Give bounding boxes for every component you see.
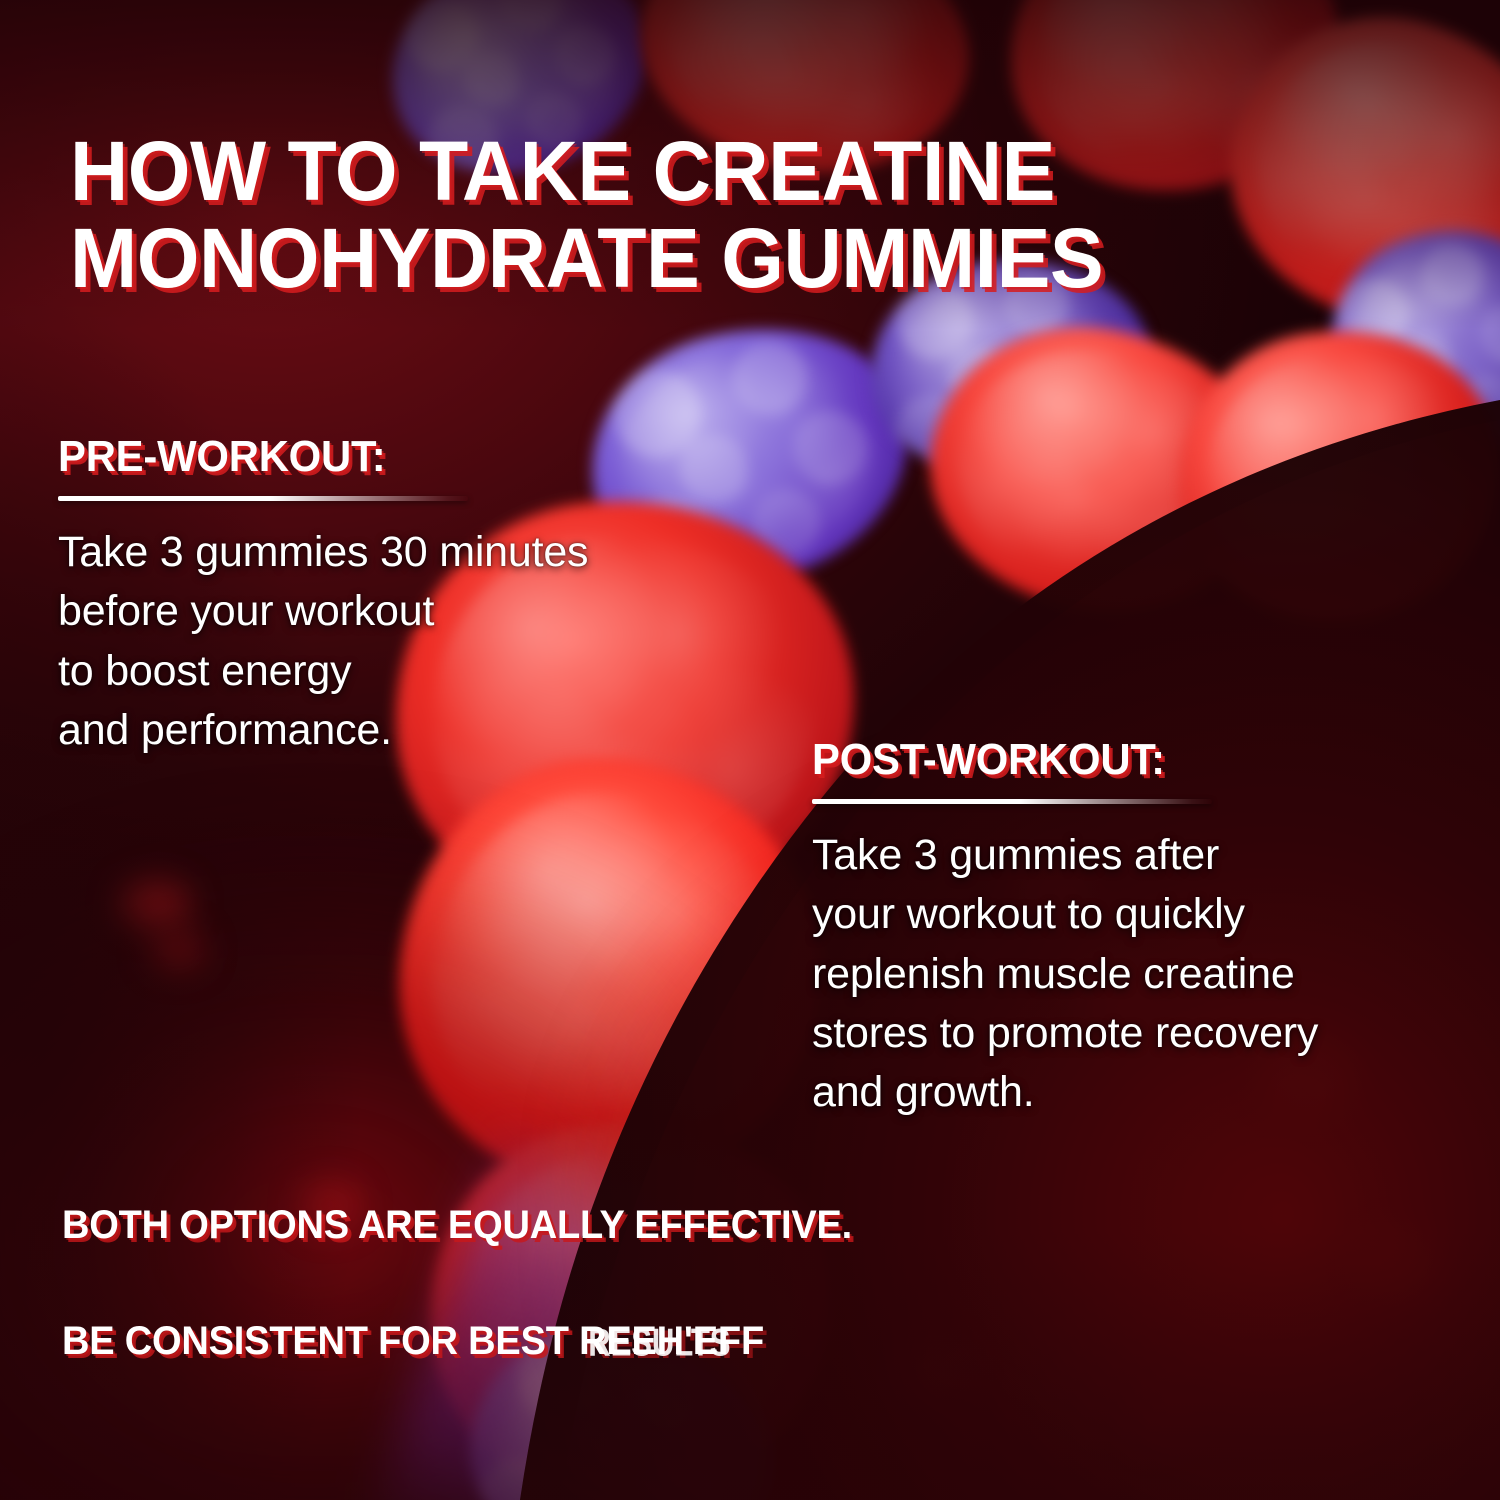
footer-line-2-prefix: BE CONSISTENT FOR BEST — [62, 1319, 579, 1363]
heading-underline-pre-workout — [58, 496, 468, 501]
bokeh-dot — [120, 880, 190, 928]
section-body-post-workout: Take 3 gummies after your workout to qui… — [812, 826, 1472, 1123]
section-post-workout: POST-WORKOUT: Take 3 gummies after your … — [812, 735, 1472, 1123]
section-body-pre-workout: Take 3 gummies 30 minutes before your wo… — [58, 523, 758, 760]
bokeh-dot — [150, 930, 204, 970]
page-title: HOW TO TAKE CREATINE MONOHYDRATE GUMMIES — [70, 128, 1270, 301]
heading-underline-post-workout — [812, 799, 1212, 804]
bokeh-dot — [1360, 1230, 1440, 1300]
footer-glitched-word: REEH'EFF — [579, 1312, 764, 1370]
section-pre-workout: PRE-WORKOUT: Take 3 gummies 30 minutes b… — [58, 432, 758, 760]
section-heading-post-workout: POST-WORKOUT: — [812, 735, 1439, 785]
footer-line-2: BE CONSISTENT FOR BEST REEH'EFF — [62, 1312, 1202, 1370]
footer-line-1: BOTH OPTIONS ARE EQUALLY EFFECTIVE. — [62, 1196, 1202, 1254]
section-heading-pre-workout: PRE-WORKOUT: — [58, 432, 723, 482]
footer-callout: BOTH OPTIONS ARE EQUALLY EFFECTIVE. BE C… — [62, 1138, 1202, 1428]
poster-canvas: HOW TO TAKE CREATINE MONOHYDRATE GUMMIES… — [0, 0, 1500, 1500]
